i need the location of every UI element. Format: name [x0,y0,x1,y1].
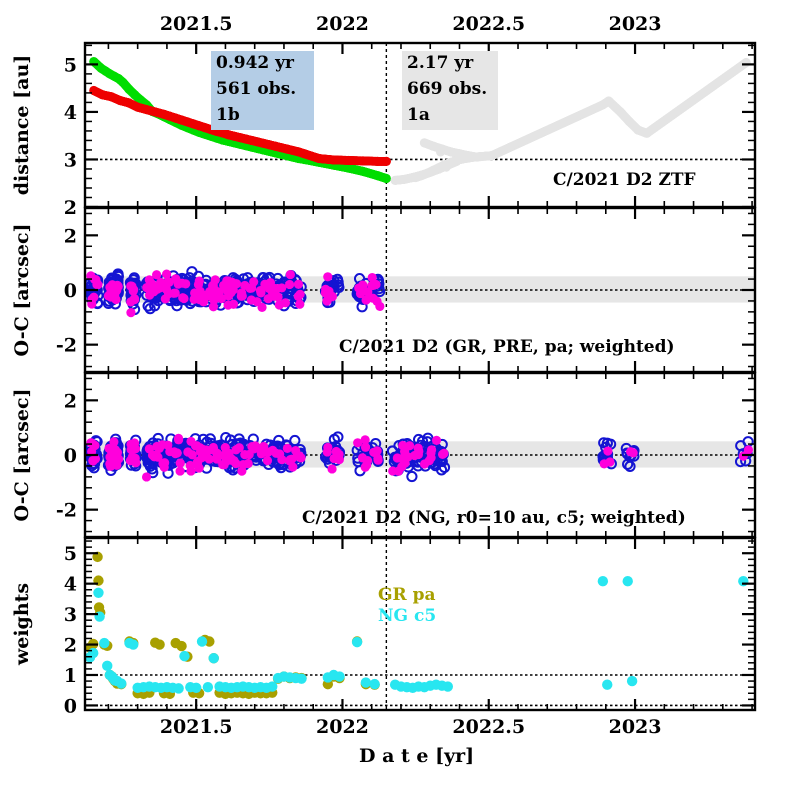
x-tick-label-bottom: 2021.5 [160,716,233,738]
y-tick-label: 3 [64,149,77,171]
y-tick-label: 0 [64,280,77,302]
figure-svg: 2345distance [au]-202O-C [arcsec]-202O-C… [0,0,797,797]
x-tick-label-bottom: 2023 [609,716,662,738]
y-tick-label: 5 [64,54,77,76]
y-tick-label: 3 [64,604,77,626]
panel-3-ylabel: O-C [arcsec] [11,388,33,521]
y-tick-label: 2 [64,390,77,412]
panel-1-ylabel: distance [au] [11,55,33,195]
panel-2-plot-area [85,208,755,372]
x-tick-label-bottom: 2022 [316,716,369,738]
panel-4-plot-area [85,538,755,710]
y-tick-label: 2 [64,225,77,247]
y-tick-label: 1 [64,665,77,687]
figure-root: 2345distance [au]-202O-C [arcsec]-202O-C… [0,0,797,797]
y-tick-label: 5 [64,543,77,565]
y-tick-label: -2 [56,500,77,522]
y-tick-label: 0 [64,695,77,717]
panel-2-ylabel: O-C [arcsec] [11,223,33,356]
x-tick-label-top: 2022.5 [452,13,525,35]
y-tick-label: 2 [64,197,77,219]
panel-1-plot-area [85,43,755,207]
x-tick-label-top: 2022 [316,13,369,35]
faded-post-perihelion-track [391,58,751,185]
weights-NG-c5 [85,576,749,694]
x-tick-label-top: 2023 [609,13,662,35]
x-tick-label-bottom: 2022.5 [452,716,525,738]
y-tick-label: 2 [64,635,77,657]
panel-3-plot-area [85,373,755,537]
y-tick-label: -2 [56,335,77,357]
y-tick-label: 0 [64,445,77,467]
y-tick-label: 4 [64,102,77,124]
y-tick-label: 4 [64,574,77,596]
x-tick-label-top: 2021.5 [160,13,233,35]
panel-4-ylabel: weights [11,583,33,666]
